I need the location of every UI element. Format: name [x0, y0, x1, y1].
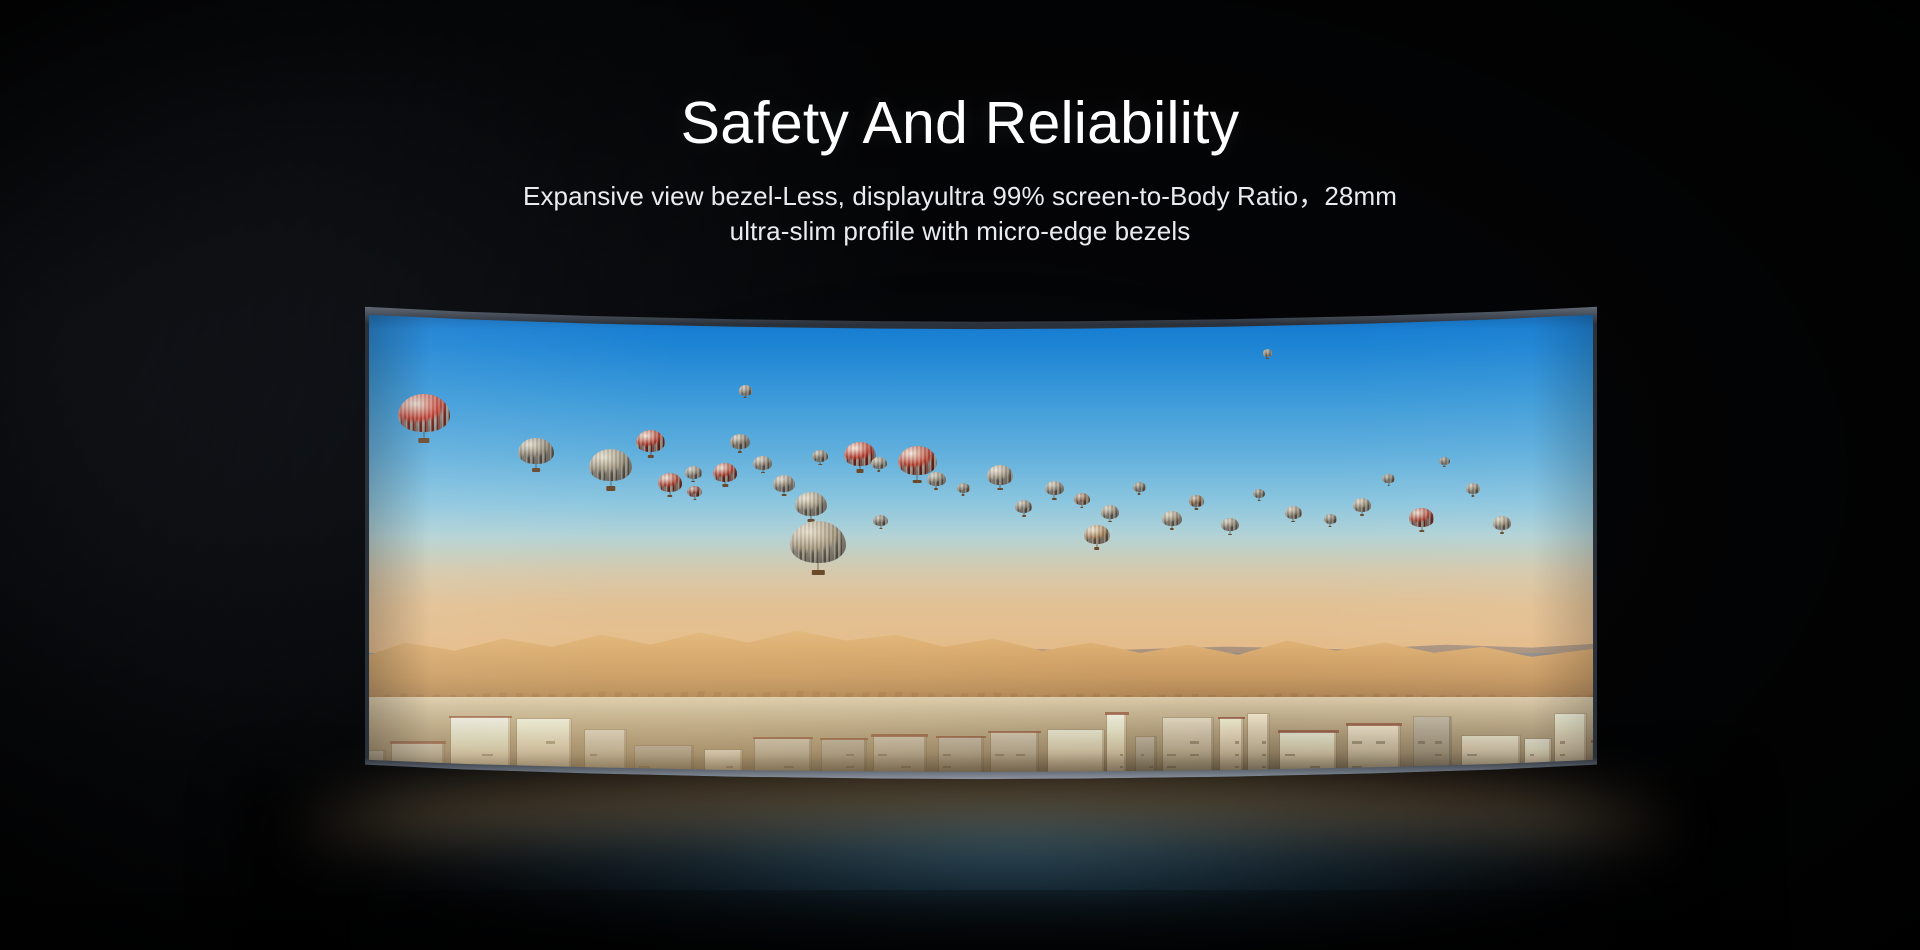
balloon-basket	[913, 480, 922, 484]
screen-photo-cappadocia	[369, 311, 1593, 773]
balloon-envelope	[1353, 498, 1371, 512]
balloon-basket	[647, 455, 653, 458]
hot-air-balloon	[1439, 457, 1450, 468]
balloon-envelope	[812, 450, 828, 462]
page-title: Safety And Reliability	[0, 94, 1920, 153]
balloon-basket	[744, 397, 747, 398]
balloon-envelope	[1101, 505, 1119, 519]
balloon-basket	[418, 438, 429, 443]
balloon-basket	[722, 484, 727, 486]
hot-air-balloon	[795, 492, 827, 523]
balloon-basket	[738, 451, 742, 453]
balloon-envelope	[518, 438, 553, 465]
balloon-basket	[818, 464, 821, 466]
hot-air-balloon	[1353, 498, 1371, 516]
balloon-envelope	[927, 472, 945, 486]
balloon-envelope	[687, 486, 702, 497]
hot-air-balloon	[1074, 493, 1090, 508]
hot-air-balloon	[1221, 518, 1239, 536]
page-subtitle: Expansive view bezel-Less, displayultra …	[400, 179, 1520, 248]
hot-air-balloon	[1324, 514, 1337, 527]
balloon-basket	[1080, 507, 1083, 509]
balloon-basket	[1195, 508, 1198, 509]
hot-air-balloon	[589, 449, 632, 490]
hot-air-balloon	[739, 385, 752, 398]
town-window	[372, 766, 377, 769]
hot-air-balloon	[1189, 495, 1204, 509]
balloon-basket	[532, 468, 540, 471]
hot-air-balloon	[518, 438, 553, 472]
balloon-envelope	[1285, 506, 1302, 519]
balloon-envelope	[1045, 481, 1065, 496]
balloon-basket	[856, 469, 863, 472]
balloon-envelope	[730, 434, 750, 449]
balloon-basket	[934, 488, 938, 490]
balloon-basket	[667, 495, 672, 497]
balloon-envelope	[1493, 516, 1511, 530]
balloon-basket	[760, 472, 764, 474]
balloon-envelope	[795, 492, 827, 516]
hot-air-balloon	[1101, 505, 1119, 523]
balloon-envelope	[871, 457, 887, 469]
hot-air-balloon	[636, 430, 665, 458]
balloon-envelope	[873, 515, 888, 526]
hot-air-balloon	[730, 434, 750, 453]
balloon-envelope	[1189, 495, 1204, 506]
hot-air-balloon	[713, 463, 737, 487]
hot-air-balloon	[873, 515, 888, 529]
balloon-basket	[693, 499, 696, 500]
hot-air-balloon	[773, 475, 795, 496]
hot-air-balloon	[1263, 349, 1273, 358]
hot-air-balloon	[812, 450, 828, 465]
hot-air-balloon	[871, 457, 887, 472]
balloon-basket	[1387, 485, 1390, 486]
balloon-envelope	[1466, 483, 1481, 494]
balloon-envelope	[1133, 482, 1146, 492]
hot-air-balloon	[987, 465, 1013, 490]
page-stage: Safety And Reliability Expansive view be…	[0, 0, 1920, 950]
hot-air-balloon	[1253, 489, 1265, 501]
balloon-envelope	[753, 456, 771, 470]
balloon-basket	[1471, 495, 1474, 496]
balloon-basket	[879, 528, 882, 529]
balloon-basket	[1052, 498, 1056, 500]
tv-screen	[369, 311, 1593, 773]
balloon-envelope	[1253, 489, 1265, 498]
balloon-basket	[606, 486, 615, 490]
hot-air-balloon	[1382, 474, 1394, 486]
floor-shadow	[0, 890, 1920, 950]
town-window	[1573, 766, 1578, 769]
balloon-basket	[1094, 547, 1100, 549]
balloon-basket	[1266, 358, 1268, 359]
balloon-basket	[782, 494, 787, 496]
balloon-envelope	[1074, 493, 1090, 505]
hot-air-balloon	[1162, 511, 1182, 530]
tv-product-image	[365, 300, 1597, 782]
hot-air-balloon	[1133, 482, 1146, 495]
hot-air-balloon	[927, 472, 945, 490]
balloon-envelope	[987, 465, 1013, 484]
hot-air-balloon	[398, 394, 449, 444]
balloon-basket	[1257, 500, 1260, 501]
balloon-envelope	[1162, 511, 1182, 526]
balloon-envelope	[398, 394, 449, 433]
hot-air-balloon	[687, 486, 702, 500]
balloon-envelope	[957, 483, 970, 493]
balloon-basket	[691, 481, 695, 483]
hot-air-balloon	[1466, 483, 1481, 497]
balloon-envelope	[898, 446, 937, 475]
balloon-envelope	[1382, 474, 1394, 483]
hot-air-balloon	[1285, 506, 1302, 523]
balloon-envelope	[1221, 518, 1239, 532]
header-block: Safety And Reliability Expansive view be…	[0, 94, 1920, 248]
balloon-envelope	[713, 463, 737, 481]
balloon-envelope	[1439, 457, 1450, 465]
balloon-basket	[997, 488, 1003, 490]
balloon-basket	[962, 494, 965, 495]
balloon-basket	[1500, 532, 1504, 534]
balloon-basket	[1228, 534, 1232, 536]
balloon-basket	[877, 470, 880, 472]
balloon-basket	[1108, 521, 1112, 523]
balloon-envelope	[589, 449, 632, 481]
hot-air-balloon	[1015, 500, 1032, 517]
balloon-envelope	[658, 473, 682, 491]
balloon-basket	[1329, 526, 1332, 527]
balloon-basket	[1360, 514, 1364, 516]
balloon-envelope	[1263, 349, 1273, 356]
balloon-envelope	[1015, 500, 1032, 513]
hot-air-balloon	[1493, 516, 1511, 534]
balloon-envelope	[790, 521, 846, 563]
balloon-envelope	[636, 430, 665, 452]
balloon-envelope	[685, 466, 702, 479]
balloon-basket	[1291, 521, 1295, 523]
balloon-envelope	[1409, 508, 1433, 526]
hot-air-balloon	[1409, 508, 1433, 532]
hot-air-balloon	[1045, 481, 1065, 500]
hot-air-balloon	[753, 456, 771, 474]
hot-air-balloon	[957, 483, 970, 496]
hot-air-balloon	[685, 466, 702, 483]
subtitle-line-2: ultra-slim profile with micro-edge bezel…	[400, 214, 1520, 249]
balloon-basket	[1443, 466, 1445, 467]
balloon-basket	[1022, 515, 1026, 517]
photo-sunlight-warmth	[369, 560, 1593, 773]
balloon-envelope	[773, 475, 795, 492]
balloon-envelope	[1324, 514, 1337, 524]
hot-air-balloon	[1084, 525, 1110, 550]
balloon-envelope	[1084, 525, 1110, 544]
balloon-envelope	[739, 385, 752, 395]
subtitle-line-1: Expansive view bezel-Less, displayultra …	[400, 179, 1520, 214]
balloon-basket	[1419, 530, 1424, 532]
balloon-basket	[1170, 528, 1174, 530]
balloon-basket	[1138, 493, 1141, 494]
hot-air-balloon	[658, 473, 682, 497]
